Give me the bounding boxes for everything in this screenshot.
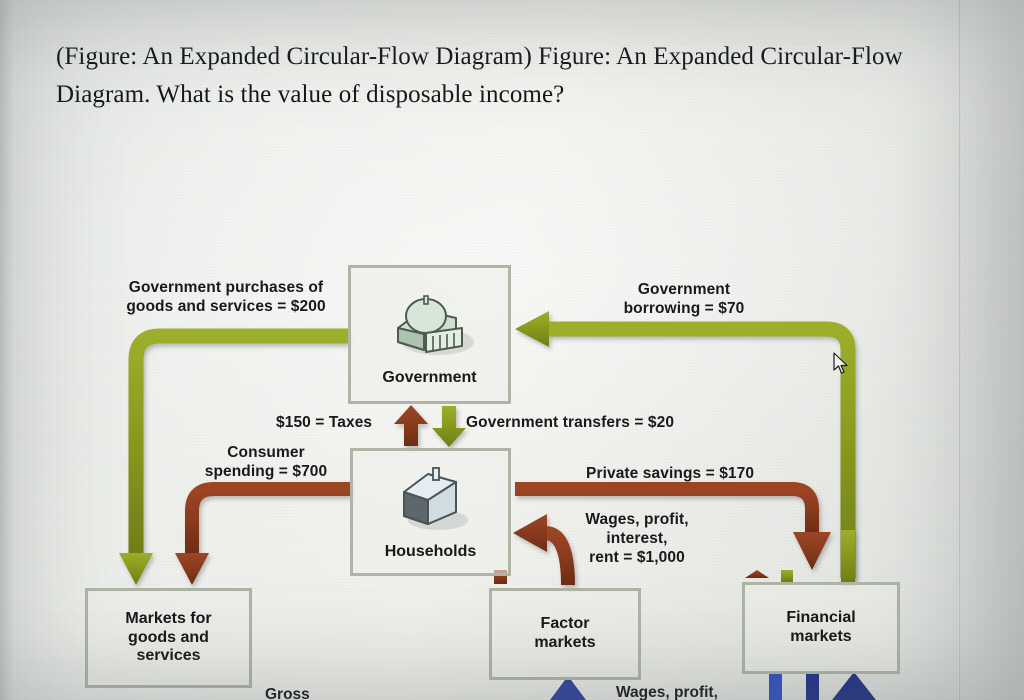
cut-label-gross: Gross xyxy=(265,686,310,700)
flow-arrow-gov-transfers xyxy=(432,406,466,447)
flow-label-gov-borrowing: Government borrowing = $70 xyxy=(592,281,776,319)
cut-label-wages-profit: Wages, profit, xyxy=(616,684,718,700)
flow-pipe-financial-green-stub xyxy=(841,530,855,582)
flow-arrow-consumer-spending xyxy=(175,489,350,585)
flow-label-gov-purchases: Government purchases of goods and servic… xyxy=(106,279,346,317)
node-government[interactable]: Government xyxy=(348,265,511,404)
arrow-pointer-icon xyxy=(833,352,849,380)
house-icon xyxy=(388,464,474,539)
node-goods-markets[interactable]: Markets for goods and services xyxy=(85,588,252,688)
node-households[interactable]: Households xyxy=(350,448,511,576)
flow-label-gov-transfers: Government transfers = $20 xyxy=(466,414,674,433)
flow-arrow-taxes xyxy=(394,405,428,446)
node-factor-markets[interactable]: Factor markets xyxy=(489,588,641,680)
screenshot-page: (Figure: An Expanded Circular-Flow Diagr… xyxy=(0,0,1024,700)
flow-label-factor-income: Wages, profit, interest, rent = $1,000 xyxy=(570,511,704,568)
flow-arrow-factor-income xyxy=(513,514,568,585)
capitol-building-icon xyxy=(382,288,478,367)
flow-label-consumer-spending: Consumer spending = $700 xyxy=(180,444,352,482)
node-households-label: Households xyxy=(385,543,477,562)
node-financial-markets[interactable]: Financial markets xyxy=(742,582,900,674)
node-government-label: Government xyxy=(382,369,476,388)
flow-label-taxes: $150 = Taxes xyxy=(276,414,372,433)
flow-stub-financial-top xyxy=(745,570,793,582)
circular-flow-diagram: Government Households Markets for goods … xyxy=(0,0,1024,700)
node-factor-markets-label: Factor markets xyxy=(534,615,595,653)
node-financial-markets-label: Financial markets xyxy=(786,609,855,647)
flow-arrow-blue-financial-bottom xyxy=(769,672,876,700)
node-goods-markets-label: Markets for goods and services xyxy=(125,610,211,667)
flow-label-private-savings: Private savings = $170 xyxy=(586,465,754,484)
